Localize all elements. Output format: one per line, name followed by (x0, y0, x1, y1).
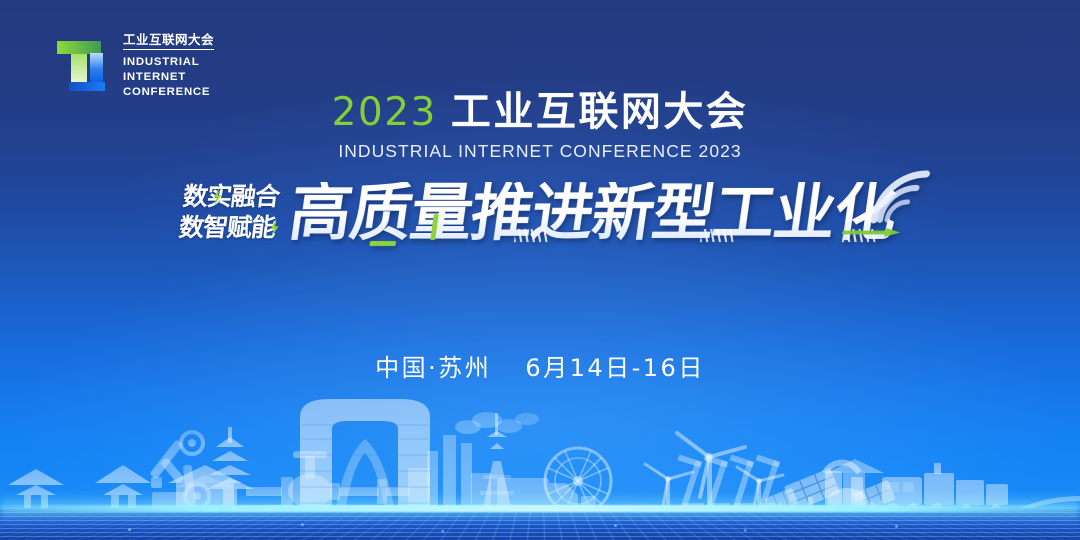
skyline-illustration (0, 365, 1080, 540)
hatch-stripes-2 (699, 229, 735, 242)
logo-en-line-1: INDUSTRIAL (123, 55, 214, 70)
event-dates: 6月14日-16日 (525, 348, 705, 383)
event-location: 中国·苏州 (375, 348, 491, 383)
logo-en-line-3: CONFERENCE (123, 85, 214, 100)
green-accent-bar-1 (369, 241, 396, 246)
grid-light-specks (0, 520, 1080, 536)
dateline-inner: 中国·苏州 6月14日-16日 (375, 348, 705, 383)
slogan-inner: 数实融合 数智赋能 高质量推进新型工业化 (181, 182, 898, 244)
conference-poster: 工业互联网大会 INDUSTRIAL INTERNET CONFERENCE 2… (0, 0, 1080, 540)
logo: 工业互联网大会 INDUSTRIAL INTERNET CONFERENCE (52, 30, 214, 100)
slogan-primary-text: 高质量推进新型工业化 (284, 176, 899, 249)
logo-chinese-name: 工业互联网大会 (123, 34, 214, 50)
slogan-primary: 高质量推进新型工业化 (281, 182, 903, 244)
wifi-signal-icon (865, 166, 935, 224)
slogan-block: 数实融合 数智赋能 高质量推进新型工业化 (0, 182, 1080, 244)
slogan-secondary-line-1: 数实融合 (182, 184, 281, 210)
logo-english-name: INDUSTRIAL INTERNET CONFERENCE (123, 55, 214, 100)
logo-mark-icon (52, 34, 114, 96)
slogan-secondary-text-1: 数实融合 (182, 182, 282, 211)
hatch-stripes-1 (513, 229, 549, 242)
logo-text: 工业互联网大会 INDUSTRIAL INTERNET CONFERENCE (123, 30, 214, 100)
headline-english-subtitle: INDUSTRIAL INTERNET CONFERENCE 2023 (0, 141, 1080, 162)
horizon-line (0, 505, 1080, 512)
dateline-block: 中国·苏州 6月14日-16日 (0, 348, 1080, 383)
slogan-secondary-line-2: 数智赋能 (178, 216, 277, 242)
logo-en-line-2: INTERNET (123, 70, 214, 85)
headline-block: 2023 工业互联网大会 INDUSTRIAL INTERNET CONFERE… (0, 92, 1080, 162)
slogan-secondary-text-2: 数智赋能 (178, 214, 278, 243)
headline-year: 2023 (332, 93, 437, 132)
headline-chinese-title: 工业互联网大会 (451, 92, 749, 132)
slogan-secondary-lines: 数实融合 数智赋能 (178, 184, 281, 242)
